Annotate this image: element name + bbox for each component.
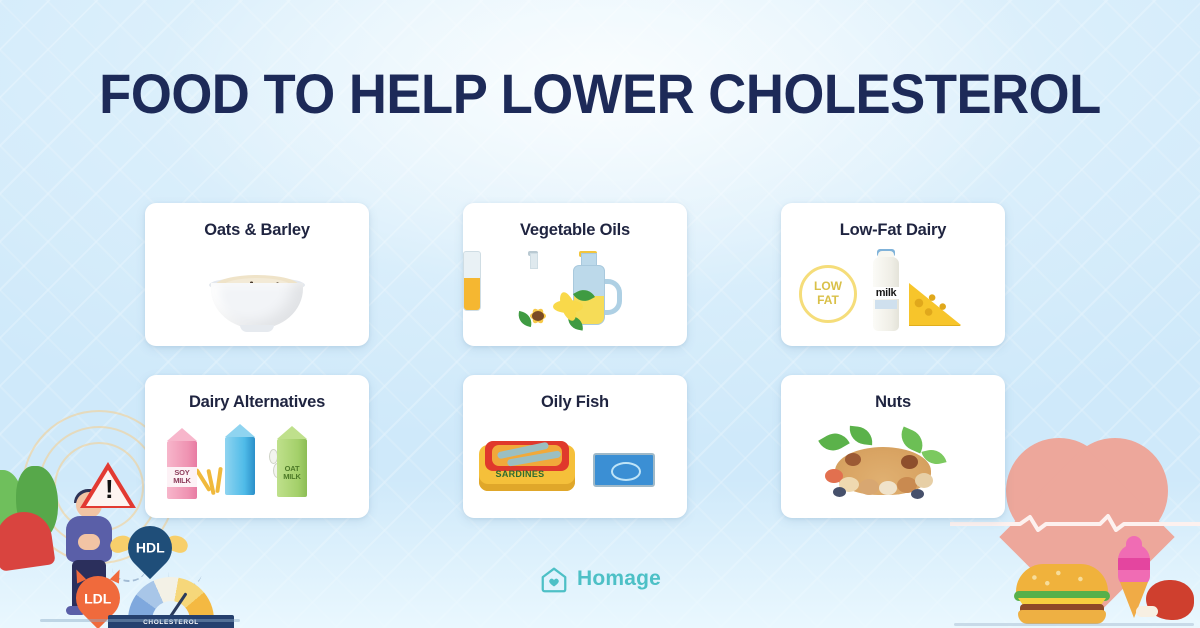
card-label: Dairy Alternatives bbox=[145, 393, 369, 412]
card-label: Vegetable Oils bbox=[463, 221, 687, 240]
card-dairy-alternatives[interactable]: Dairy Alternatives SOY MILK bbox=[145, 375, 369, 518]
card-oily-fish[interactable]: Oily Fish SARDINES bbox=[463, 375, 687, 518]
badge-line-2: FAT bbox=[817, 294, 839, 308]
card-row-top: Oats & Barley Vegetable Oils bbox=[145, 203, 1055, 346]
soy-milk-carton-icon: SOY MILK bbox=[167, 441, 197, 499]
homage-logo[interactable]: Homage bbox=[0, 564, 1200, 594]
infographic-canvas: ! HDL LDL CHOLESTEROL bbox=[0, 0, 1200, 628]
dairy-alternatives-icon: SOY MILK OAT MILK bbox=[145, 423, 369, 515]
fish-can-icon bbox=[593, 453, 655, 487]
house-with-heart-icon bbox=[539, 564, 569, 594]
card-label: Oats & Barley bbox=[145, 221, 369, 240]
oat-milk-carton-icon: OAT MILK bbox=[277, 439, 307, 497]
oily-fish-icon: SARDINES bbox=[463, 423, 687, 515]
oat-milk-label: OAT MILK bbox=[277, 465, 307, 481]
assorted-nuts-icon bbox=[781, 423, 1005, 515]
card-row-bottom: Dairy Alternatives SOY MILK bbox=[145, 375, 1055, 518]
bowl-of-oats-icon bbox=[145, 251, 369, 343]
vegetable-oil-icon bbox=[463, 251, 687, 343]
card-vegetable-oils[interactable]: Vegetable Oils bbox=[463, 203, 687, 346]
logo-text: Homage bbox=[577, 567, 661, 591]
low-fat-dairy-icon: LOW FAT milk bbox=[781, 251, 1005, 343]
card-label: Low-Fat Dairy bbox=[781, 221, 1005, 240]
card-low-fat-dairy[interactable]: Low-Fat Dairy LOW FAT milk bbox=[781, 203, 1005, 346]
food-card-grid: Oats & Barley Vegetable Oils bbox=[145, 203, 1055, 518]
soy-milk-label: SOY MILK bbox=[167, 467, 197, 487]
milk-carton-blue-icon bbox=[225, 437, 255, 495]
card-label: Oily Fish bbox=[463, 393, 687, 412]
page-title: FOOD TO HELP LOWER CHOLESTEROL bbox=[36, 66, 1164, 122]
card-label: Nuts bbox=[781, 393, 1005, 412]
low-fat-badge: LOW FAT bbox=[799, 265, 857, 323]
card-nuts[interactable]: Nuts bbox=[781, 375, 1005, 518]
card-oats-barley[interactable]: Oats & Barley bbox=[145, 203, 369, 346]
badge-line-1: LOW bbox=[814, 280, 842, 294]
milk-bottle-label: milk bbox=[873, 287, 899, 299]
sardines-label: SARDINES bbox=[485, 469, 555, 479]
